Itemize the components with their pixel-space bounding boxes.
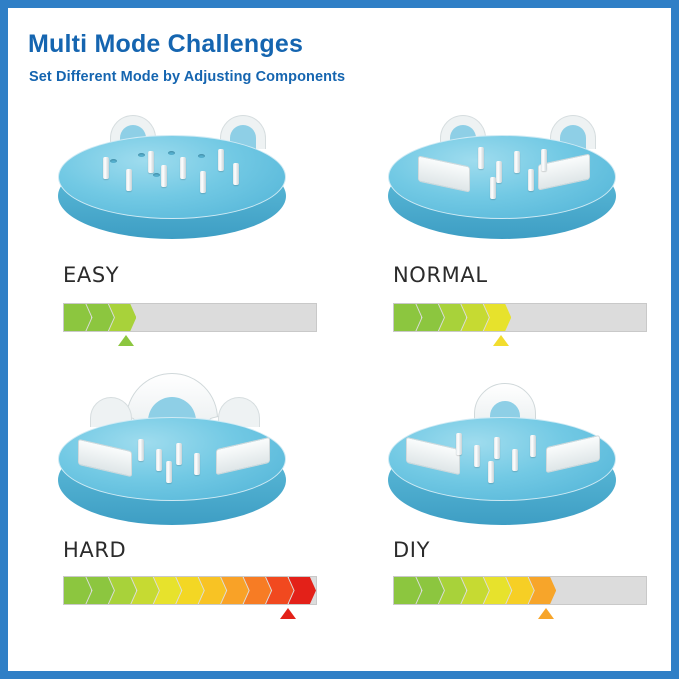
peg xyxy=(456,433,462,455)
peg xyxy=(530,435,536,457)
meter-segment xyxy=(64,577,91,604)
mode-card-hard: HARD xyxy=(8,363,338,643)
mode-label-diy: DIY xyxy=(393,538,430,562)
peg xyxy=(478,147,484,169)
peg xyxy=(233,163,239,185)
peg xyxy=(528,169,534,191)
page-title: Multi Mode Challenges xyxy=(28,30,303,59)
peg xyxy=(103,157,109,179)
peg xyxy=(488,461,494,483)
peg xyxy=(474,445,480,467)
product-info-card: Multi Mode Challenges Set Different Mode… xyxy=(8,8,671,671)
meter-pointer-normal xyxy=(493,335,509,346)
peg xyxy=(176,443,182,465)
peg xyxy=(180,157,186,179)
mode-card-easy: EASY xyxy=(8,103,338,358)
mode-label-easy: EASY xyxy=(63,263,119,287)
peg-hole xyxy=(153,173,160,177)
peg-hole xyxy=(198,154,205,158)
peg xyxy=(166,461,172,483)
difficulty-meter-diy xyxy=(393,576,647,605)
difficulty-meter-easy xyxy=(63,303,317,332)
peg xyxy=(512,449,518,471)
meter-pointer-easy xyxy=(118,335,134,346)
peg xyxy=(494,437,500,459)
peg-hole xyxy=(138,153,145,157)
mode-card-diy: DIY xyxy=(338,363,668,643)
meter-segment xyxy=(64,304,91,331)
mode-label-normal: NORMAL xyxy=(393,263,488,287)
device-illustration-diy xyxy=(378,377,628,532)
peg xyxy=(218,149,224,171)
page-subtitle: Set Different Mode by Adjusting Componen… xyxy=(29,69,345,85)
device-illustration-normal xyxy=(378,113,628,253)
peg xyxy=(138,439,144,461)
meter-segment xyxy=(394,577,421,604)
peg xyxy=(514,151,520,173)
device-illustration-easy xyxy=(48,113,298,253)
peg-hole xyxy=(110,159,117,163)
device-illustration-hard xyxy=(48,363,298,528)
peg xyxy=(200,171,206,193)
peg xyxy=(126,169,132,191)
mode-label-hard: HARD xyxy=(63,538,126,562)
peg xyxy=(161,165,167,187)
peg xyxy=(148,151,154,173)
peg xyxy=(541,149,547,171)
meter-pointer-hard xyxy=(280,608,296,619)
peg-hole xyxy=(168,151,175,155)
meter-segment xyxy=(394,304,421,331)
disc-top-surface xyxy=(58,135,286,219)
meter-pointer-diy xyxy=(538,608,554,619)
peg xyxy=(496,161,502,183)
mode-card-normal: NORMAL xyxy=(338,103,668,358)
peg xyxy=(156,449,162,471)
difficulty-meter-hard xyxy=(63,576,317,605)
peg xyxy=(490,177,496,199)
difficulty-meter-normal xyxy=(393,303,647,332)
peg xyxy=(194,453,200,475)
